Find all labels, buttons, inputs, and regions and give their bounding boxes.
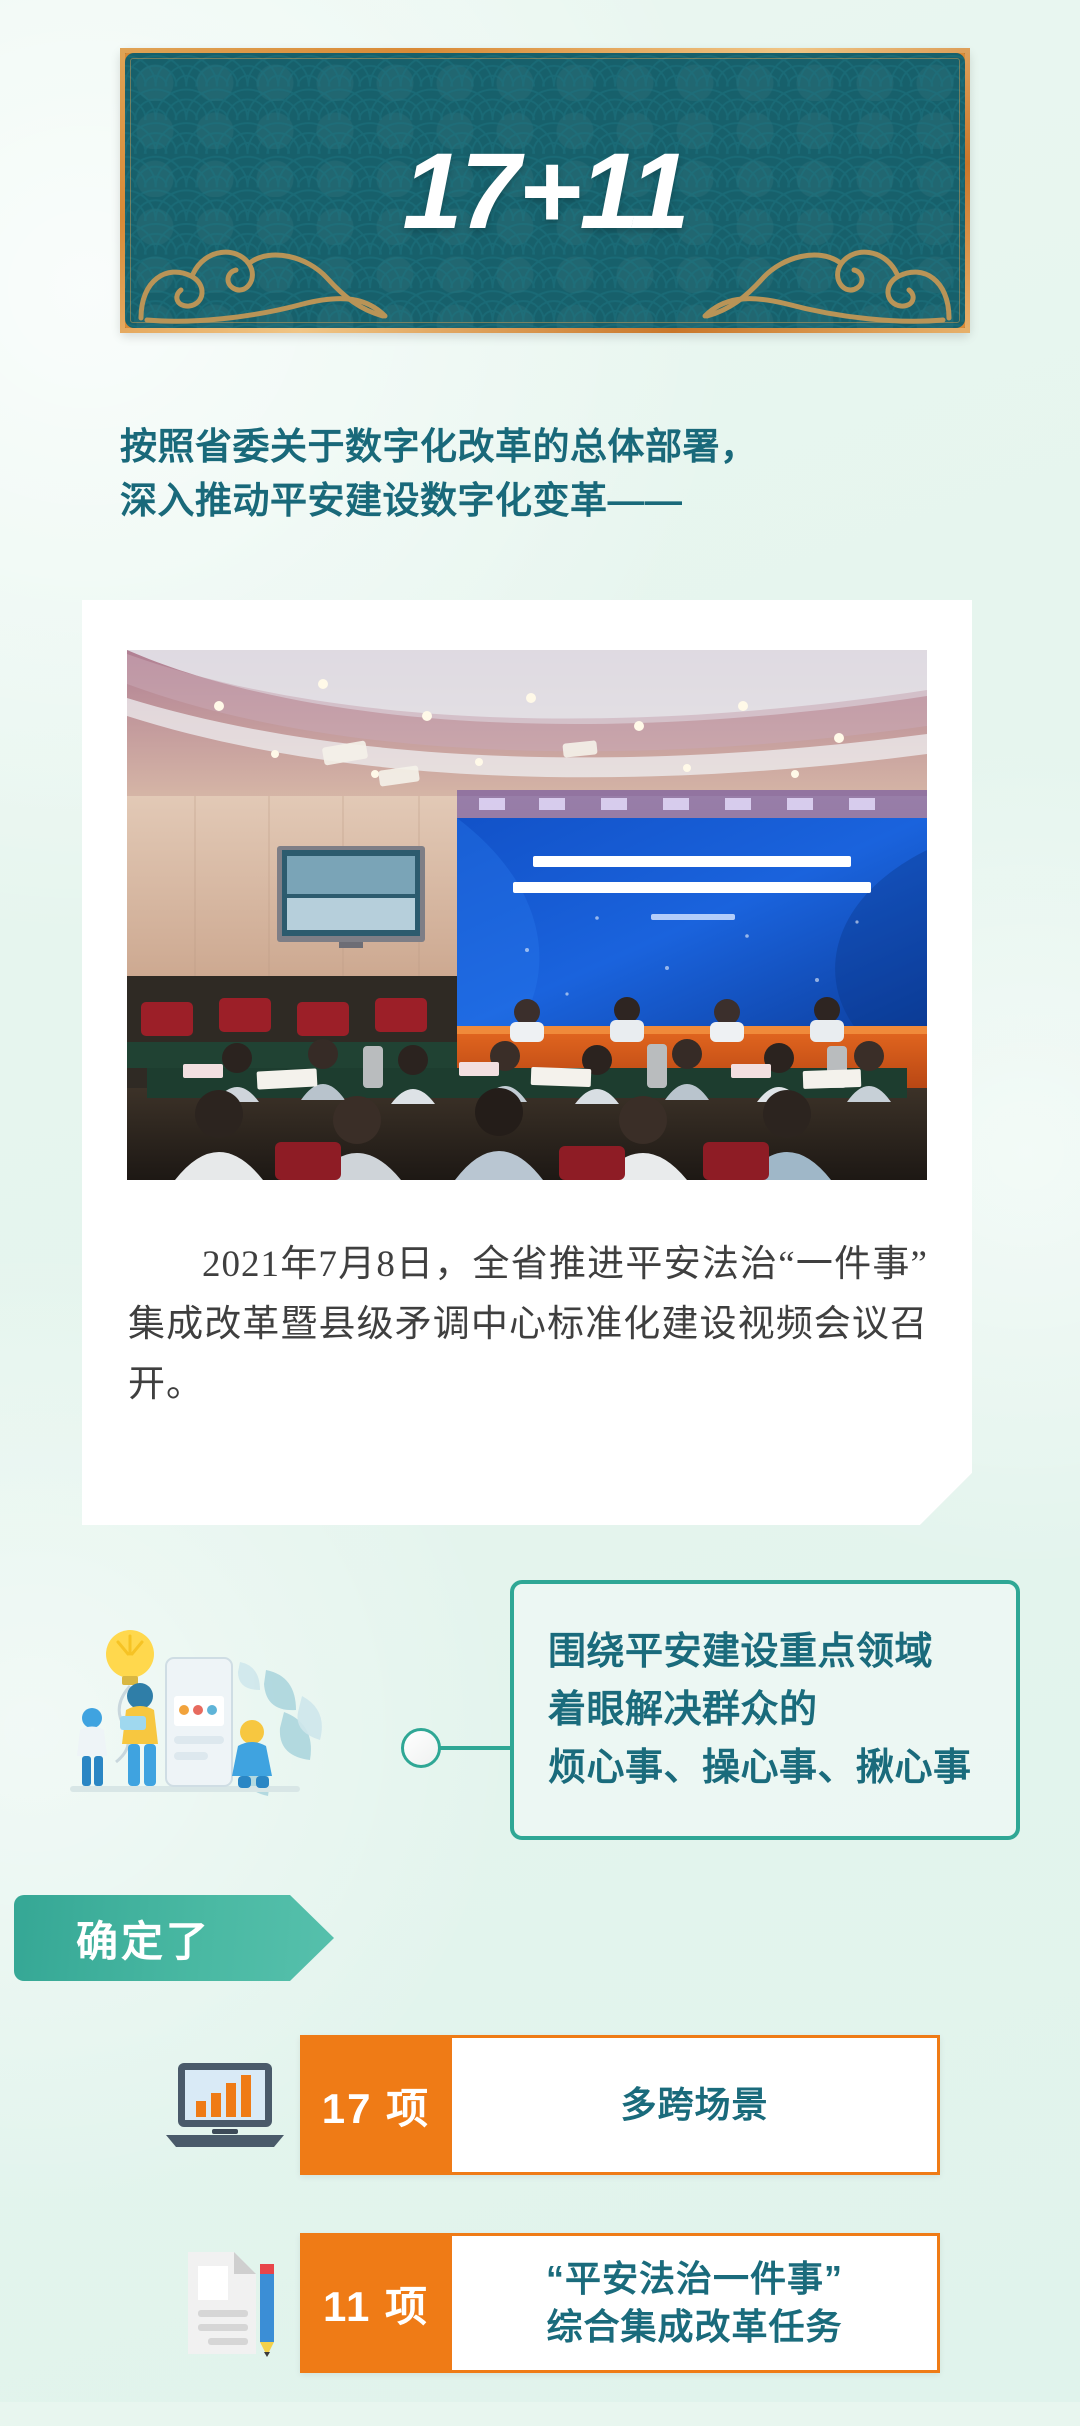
intro-line-1: 按照省委关于数字化改革的总体部署， xyxy=(120,420,960,474)
intro-heading: 按照省委关于数字化改革的总体部署， 深入推动平安建设数字化变革—— xyxy=(120,420,960,528)
callout-line-2: 着眼解决群众的 xyxy=(548,1685,982,1735)
callout-line-1: 围绕平安建设重点领域 xyxy=(548,1627,982,1677)
laptop-bar-chart-icon xyxy=(150,2057,300,2153)
photo-card: 2021年7月8日，全省推进平安法治“一件事”集成改革暨县级矛调中心标准化建设视… xyxy=(82,600,972,1525)
callout-line-3: 烦心事、操心事、揪心事 xyxy=(548,1743,982,1793)
item-text: 多跨场景 xyxy=(452,2035,940,2175)
plaque-frame: 17+11 xyxy=(120,48,970,333)
item-text: “平安法治一件事” 综合集成改革任务 xyxy=(452,2233,940,2373)
item-text-line-1: “平安法治一件事” xyxy=(546,2255,843,2303)
item-bar: 17 项 多跨场景 xyxy=(300,2035,940,2175)
item-bar: 11 项 “平安法治一件事” 综合集成改革任务 xyxy=(300,2233,940,2373)
item-row: 17 项 多跨场景 xyxy=(150,2030,940,2180)
item-count: 11 项 xyxy=(300,2233,452,2373)
corner-notch-top-left xyxy=(120,48,154,82)
lightbulb-idea-people-illustration xyxy=(70,1600,370,1815)
corner-notch-top-right xyxy=(936,48,970,82)
item-row: 11 项 “平安法治一件事” 综合集成改革任务 xyxy=(150,2228,940,2378)
intro-line-2: 深入推动平安建设数字化变革—— xyxy=(120,474,960,528)
callout-connector-line xyxy=(438,1746,514,1750)
photo-caption: 2021年7月8日，全省推进平安法治“一件事”集成改革暨县级矛调中心标准化建设视… xyxy=(128,1235,928,1415)
ribbon-label: 确定了 xyxy=(76,1908,211,1969)
corner-notch-bottom-right xyxy=(936,299,970,333)
item-text-line-1: 多跨场景 xyxy=(620,2081,768,2129)
section-ribbon: 确定了 xyxy=(14,1895,334,1981)
item-text-line-2: 综合集成改革任务 xyxy=(546,2303,842,2351)
conference-hall-photo xyxy=(127,650,927,1180)
infographic-page: 17+11 按照省委关于数字化改革的总体部署， 深入推动平安建设数字化变革—— xyxy=(0,0,1080,2402)
plaque-number: 17+11 xyxy=(125,53,965,328)
items-list: 17 项 多跨场景 xyxy=(150,2030,940,2426)
callout-connector-dot xyxy=(401,1728,441,1768)
header-plaque: 17+11 xyxy=(120,48,970,333)
item-count: 17 项 xyxy=(300,2035,452,2175)
document-pencil-icon xyxy=(150,2244,300,2362)
corner-notch-bottom-left xyxy=(120,299,154,333)
callout-section: 围绕平安建设重点领域 着眼解决群众的 烦心事、操心事、揪心事 xyxy=(60,1580,1020,1840)
callout-text-box: 围绕平安建设重点领域 着眼解决群众的 烦心事、操心事、揪心事 xyxy=(510,1580,1020,1840)
